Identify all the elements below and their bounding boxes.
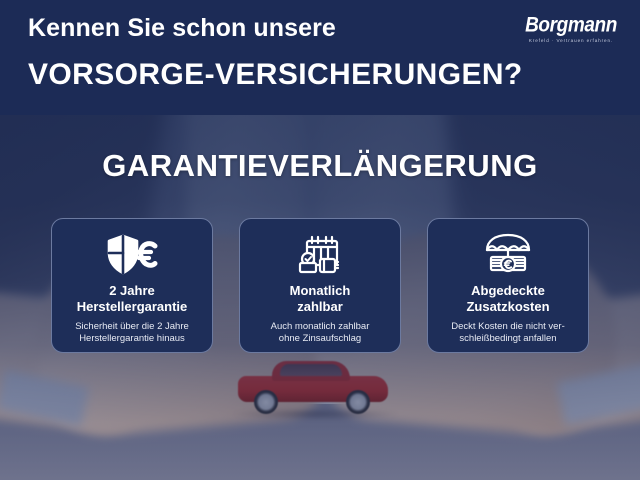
card-title: Abgedeckte Zusatzkosten [436,283,580,315]
page-title: GARANTIEVERLÄNGERUNG [0,148,640,184]
borgmann-logo[interactable]: Borgmann Krefeld · Vertrauen erfahren. [516,16,626,50]
calendar-money-icon [248,229,392,281]
card-title: Monatlich zahlbar [248,283,392,315]
logo-wordmark: Borgmann [516,15,626,37]
header-line-2: VORSORGE-VERSICHERUNGEN? [28,58,523,92]
shield-euro-icon [60,229,204,281]
feature-card-list: 2 Jahre Herstellergarantie Sicherheit üb… [0,218,640,353]
feature-card-manufacturer-warranty[interactable]: 2 Jahre Herstellergarantie Sicherheit üb… [51,218,213,353]
header-line-1: Kennen Sie schon unsere [28,14,336,43]
header-band: Kennen Sie schon unsere VORSORGE-VERSICH… [0,0,640,115]
logo-tagline: Krefeld · Vertrauen erfahren. [516,38,626,44]
card-description: Sicherheit über die 2 Jahre Herstellerga… [60,321,204,345]
umbrella-money-icon [436,229,580,281]
feature-card-monthly-payment[interactable]: Monatlich zahlbar Auch monatlich zahlbar… [239,218,401,353]
card-title: 2 Jahre Herstellergarantie [60,283,204,315]
card-description: Auch monatlich zahlbar ohne Zinsaufschla… [248,321,392,345]
feature-card-extra-costs[interactable]: Abgedeckte Zusatzkosten Deckt Kosten die… [427,218,589,353]
card-description: Deckt Kosten die nicht ver- schleißbedin… [436,321,580,345]
promo-banner: Kennen Sie schon unsere VORSORGE-VERSICH… [0,0,640,480]
